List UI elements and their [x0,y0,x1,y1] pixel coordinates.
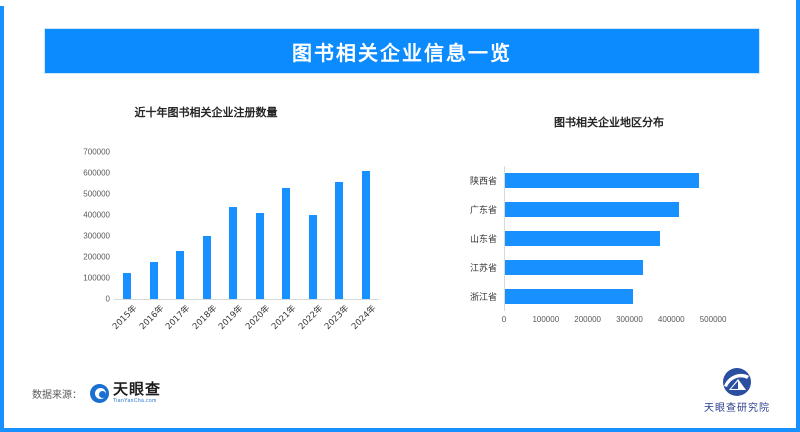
left-chart-title: 近十年图书相关企业注册数量 [56,96,356,120]
institute-emblem-svg [717,367,757,397]
horizontal-bar-chart-area: 陕西省广东省山东省江苏省浙江省 010000020000030000040000… [444,158,774,338]
bar [176,251,184,299]
x-tick-label: 2015年 [110,302,140,332]
bar [123,273,131,299]
vertical-bars [114,152,379,299]
bar-slot [300,152,327,299]
x-tick-label: 2019年 [216,302,246,332]
page-title: 图书相关企业信息一览 [292,37,512,66]
x-tick-label: 2017年 [163,302,193,332]
category-label: 浙江省 [470,290,497,303]
y-tick-label: 700000 [83,148,110,157]
bar-row: 陕西省 [505,171,735,191]
tianyancha-name-en: TianYanCha.com [113,399,161,404]
bar [335,182,343,299]
bar-row: 山东省 [505,229,735,249]
bar-slot [273,152,300,299]
bar [203,236,211,299]
bar [505,289,633,304]
horizontal-chart-plot: 陕西省广东省山东省江苏省浙江省 [504,166,735,311]
y-tick-label: 0 [106,295,110,304]
y-tick-label: 500000 [83,190,110,199]
x-tick-label: 0 [502,315,506,324]
x-tick-label: 100000 [532,315,559,324]
category-label: 广东省 [470,203,497,216]
vertical-bar-chart-area: 0100000200000300000400000500000600000700… [56,152,426,347]
x-tick-label: 500000 [700,315,727,324]
institute-emblem-icon [717,367,757,397]
infographic-page: 图书相关企业信息一览 近十年图书相关企业注册数量 010000020000030… [0,0,800,432]
bar-slot [326,152,353,299]
category-label: 陕西省 [470,174,497,187]
bar [282,188,290,299]
bar [309,215,317,299]
x-tick-label: 2018年 [189,302,219,332]
x-tick-label: 2024年 [348,302,378,332]
bar [150,262,158,299]
bar-slot [194,152,221,299]
institute-name: 天眼查研究院 [704,399,770,414]
horizontal-chart-x-axis: 0100000200000300000400000500000 [504,313,734,327]
vertical-chart-x-axis: 2015年2016年2017年2018年2019年2020年2021年2022年… [114,302,379,346]
right-chart-title: 图书相关企业地区分布 [444,96,774,130]
x-tick-label: 300000 [616,315,643,324]
bar-slot [167,152,194,299]
bar-row: 浙江省 [505,287,735,307]
y-tick-label: 600000 [83,169,110,178]
title-banner: 图书相关企业信息一览 [44,28,760,74]
bar-slot [141,152,168,299]
tianyancha-eye-icon [90,384,109,403]
region-distribution-chart: 图书相关企业地区分布 陕西省广东省山东省江苏省浙江省 0100000200000… [444,96,774,351]
tianyancha-name-cn: 天眼查 [113,382,161,397]
y-tick-label: 200000 [83,253,110,262]
x-tick-label: 2021年 [269,302,299,332]
bar [229,207,237,299]
category-label: 山东省 [470,232,497,245]
bar-slot [353,152,380,299]
bar-slot [220,152,247,299]
data-source: 数据来源： 天眼查 TianYanCha.com [32,382,161,404]
bar-row: 江苏省 [505,258,735,278]
vertical-chart-y-axis: 0100000200000300000400000500000600000700… [56,152,110,299]
bar [362,171,370,299]
institute-logo: 天眼查研究院 [704,367,770,414]
tianyancha-wordmark: 天眼查 TianYanCha.com [113,382,161,404]
bar-slot [114,152,141,299]
x-tick-label: 2022年 [295,302,325,332]
y-tick-label: 100000 [83,274,110,283]
category-label: 江苏省 [470,261,497,274]
x-tick-label: 200000 [574,315,601,324]
x-tick-label: 400000 [658,315,685,324]
x-tick-label: 2020年 [242,302,272,332]
bar [505,173,699,188]
y-tick-label: 400000 [83,211,110,220]
bar [505,231,660,246]
bar [505,202,679,217]
x-label-slot: 2024年 [353,302,380,346]
x-tick-label: 2016年 [136,302,166,332]
x-tick-label: 2023年 [322,302,352,332]
tianyancha-logo: 天眼查 TianYanCha.com [90,382,161,404]
registration-trend-chart: 近十年图书相关企业注册数量 01000002000003000004000005… [56,96,426,351]
vertical-chart-plot [114,152,379,300]
bar [256,213,264,299]
bar [505,260,643,275]
y-tick-label: 300000 [83,232,110,241]
data-source-label: 数据来源： [32,386,82,401]
bar-row: 广东省 [505,200,735,220]
bar-slot [247,152,274,299]
